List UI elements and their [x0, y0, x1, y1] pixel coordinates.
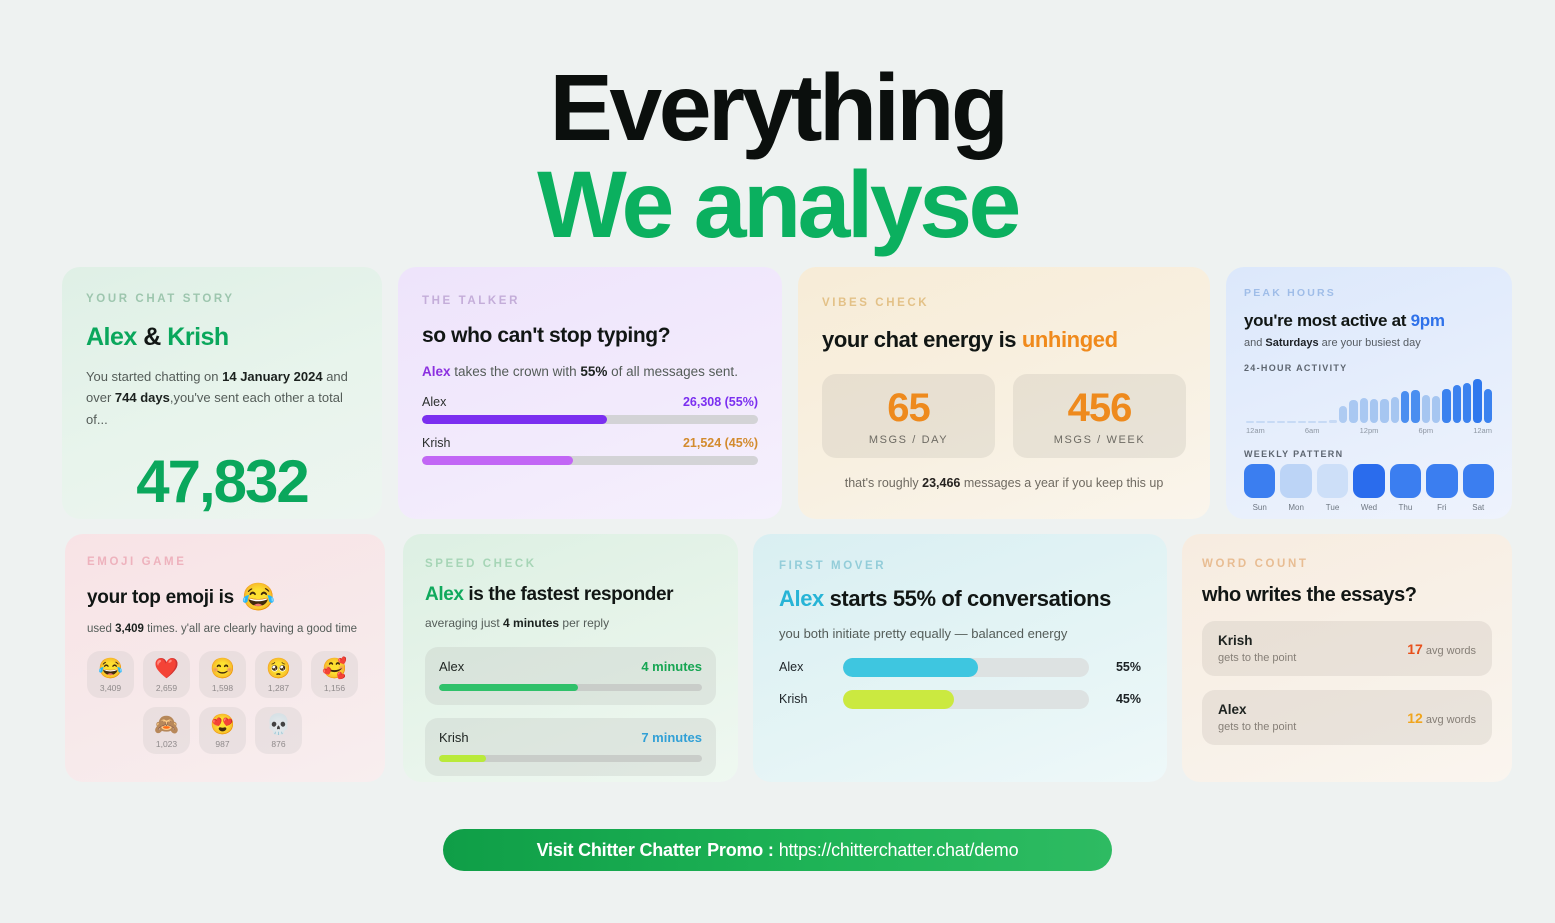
- speed-row-alex-name: Alex: [439, 659, 464, 674]
- emoji-sub-1: used: [87, 623, 115, 635]
- hour-bar: [1484, 389, 1492, 424]
- vibes-title-highlight: unhinged: [1022, 327, 1118, 352]
- hour-axis-tick: 6pm: [1419, 426, 1434, 435]
- hour-bar: [1246, 421, 1254, 423]
- hourly-activity-chart: [1244, 377, 1494, 423]
- emoji-count: 987: [199, 739, 246, 749]
- mover-row-krish-fill: [843, 690, 954, 709]
- mover-row-alex-name: Alex: [779, 660, 831, 674]
- chat-story-total-messages: 47,832: [86, 452, 358, 512]
- card-emoji-game[interactable]: EMOJI GAME your top emoji is 😂 used 3,40…: [65, 534, 385, 782]
- emoji-cell[interactable]: 🥰1,156: [311, 651, 358, 698]
- hour-bar: [1329, 420, 1337, 423]
- peak-hour-highlight: 9pm: [1411, 311, 1445, 330]
- emoji-cell[interactable]: 💀876: [255, 707, 302, 754]
- week-square: [1280, 464, 1311, 498]
- vibes-stat-per-day: 65 MSGS / DAY: [822, 374, 995, 458]
- talker-bar-krish-track: [422, 456, 758, 465]
- card-word-count[interactable]: WORD COUNT who writes the essays? Krish …: [1182, 534, 1512, 782]
- chat-story-name-b: Krish: [167, 323, 228, 351]
- emoji-cell[interactable]: 🙈1,023: [143, 707, 190, 754]
- speed-sub-2: per reply: [559, 616, 609, 630]
- emoji-cell[interactable]: 😂3,409: [87, 651, 134, 698]
- talker-bar-alex-value: 26,308 (55%): [683, 395, 758, 409]
- chat-story-day-count: 744 days: [115, 390, 170, 405]
- hour-bar: [1473, 379, 1481, 423]
- vibes-msgs-week-value: 456: [1021, 388, 1178, 428]
- hour-bar: [1380, 399, 1388, 423]
- word-row-krish-unit: avg words: [1423, 645, 1476, 657]
- peak-busiest-day: Saturdays: [1265, 337, 1318, 349]
- mover-row-krish-track: [843, 690, 1089, 709]
- speed-row-krish-name: Krish: [439, 730, 469, 745]
- talker-sub-2: of all messages sent.: [607, 364, 738, 379]
- word-row-alex-name: Alex: [1218, 702, 1296, 717]
- chat-story-description: You started chatting on 14 January 2024 …: [86, 366, 358, 430]
- mover-title-rest: starts 55% of conversations: [824, 586, 1111, 611]
- talker-leader-name: Alex: [422, 364, 451, 379]
- mover-row-alex-track: [843, 658, 1089, 677]
- hero-heading: Everything We analyse: [0, 0, 1555, 252]
- week-cell: Tue: [1317, 464, 1348, 512]
- peak-subtitle: and Saturdays are your busiest day: [1244, 337, 1494, 349]
- speed-row-krish-track: [439, 755, 702, 762]
- emoji-count: 1,023: [143, 739, 190, 749]
- word-row-alex-number: 12: [1407, 710, 1423, 726]
- speed-sub-1: averaging just: [425, 616, 503, 630]
- peak-sub-2: are your busiest day: [1319, 337, 1421, 349]
- talker-bar-krish-fill: [422, 456, 573, 465]
- emoji-grid: 😂3,409❤️2,659😊1,598🥺1,287🥰1,156🙈1,023😍98…: [87, 651, 363, 754]
- emoji-title-text: your top emoji is: [87, 587, 234, 609]
- hour-bar: [1308, 421, 1316, 423]
- week-cell: Mon: [1280, 464, 1311, 512]
- hero-line-1: Everything: [0, 62, 1555, 155]
- emoji-cell[interactable]: ❤️2,659: [143, 651, 190, 698]
- vibes-msgs-day-label: MSGS / DAY: [830, 434, 987, 446]
- week-day-label: Sun: [1244, 503, 1275, 512]
- speed-title-rest: is the fastest responder: [464, 584, 674, 605]
- chat-story-start-date: 14 January 2024: [222, 369, 322, 384]
- hour-bar: [1411, 390, 1419, 423]
- card-the-talker[interactable]: THE TALKER so who can't stop typing? Ale…: [398, 267, 782, 519]
- chat-story-name-a: Alex: [86, 323, 137, 351]
- hour-bar: [1298, 421, 1306, 423]
- card-eyebrow-first-mover: FIRST MOVER: [779, 560, 1141, 572]
- week-day-label: Thu: [1390, 503, 1421, 512]
- hour-bar: [1442, 389, 1450, 424]
- word-row-krish-desc: gets to the point: [1218, 652, 1296, 664]
- emoji-cell[interactable]: 😊1,598: [199, 651, 246, 698]
- talker-leader-pct: 55%: [580, 364, 607, 379]
- week-day-label: Wed: [1353, 503, 1384, 512]
- speed-row-alex: Alex 4 minutes: [425, 647, 716, 705]
- week-day-label: Tue: [1317, 503, 1348, 512]
- peak-weekly-chart-label: WEEKLY PATTERN: [1244, 449, 1494, 459]
- hour-bar: [1277, 421, 1285, 423]
- hour-axis-tick: 6am: [1305, 426, 1320, 435]
- card-speed-check[interactable]: SPEED CHECK Alex is the fastest responde…: [403, 534, 738, 782]
- emoji-count: 1,156: [311, 683, 358, 693]
- speed-row-alex-track: [439, 684, 702, 691]
- vibes-msgs-week-label: MSGS / WEEK: [1021, 434, 1178, 446]
- week-cell: Fri: [1426, 464, 1457, 512]
- emoji-cell[interactable]: 🥺1,287: [255, 651, 302, 698]
- talker-sub-1: takes the crown with: [451, 364, 581, 379]
- vibes-stat-pair: 65 MSGS / DAY 456 MSGS / WEEK: [822, 374, 1186, 458]
- week-cell: Wed: [1353, 464, 1384, 512]
- week-cell: Thu: [1390, 464, 1421, 512]
- hero-line-2: We analyse: [0, 159, 1555, 252]
- week-square: [1317, 464, 1348, 498]
- cta-promo-button[interactable]: Visit Chitter ChatterPromo :https://chit…: [443, 829, 1112, 871]
- mover-row-alex-fill: [843, 658, 978, 677]
- mover-row-alex-pct: 55%: [1101, 660, 1141, 674]
- card-vibes-check[interactable]: VIBES CHECK your chat energy is unhinged…: [798, 267, 1210, 519]
- emoji-count: 1,287: [255, 683, 302, 693]
- word-row-krish-name: Krish: [1218, 633, 1296, 648]
- talker-bar-krish-name: Krish: [422, 436, 450, 450]
- emoji-count: 876: [255, 739, 302, 749]
- card-eyebrow-the-talker: THE TALKER: [422, 295, 758, 307]
- emoji-glyph-icon: 🙈: [143, 714, 190, 736]
- hour-bar: [1432, 396, 1440, 423]
- emoji-sub-2: times. y'all are clearly having a good t…: [144, 623, 357, 635]
- emoji-glyph-icon: ❤️: [143, 658, 190, 680]
- word-row-alex-unit: avg words: [1423, 714, 1476, 726]
- hour-bar: [1267, 421, 1275, 423]
- word-row-alex: Alex gets to the point 12 avg words: [1202, 690, 1492, 745]
- emoji-glyph-icon: 🥺: [255, 658, 302, 680]
- card-first-mover[interactable]: FIRST MOVER Alex starts 55% of conversat…: [753, 534, 1167, 782]
- speed-fastest-name: Alex: [425, 584, 464, 605]
- word-row-krish: Krish gets to the point 17 avg words: [1202, 621, 1492, 676]
- vibes-footer-note: that's roughly 23,466 messages a year if…: [822, 476, 1186, 490]
- hour-bar: [1339, 406, 1347, 423]
- emoji-subtitle: used 3,409 times. y'all are clearly havi…: [87, 620, 363, 639]
- peak-title-1: you're most active at: [1244, 311, 1411, 330]
- mover-row-alex: Alex 55%: [779, 658, 1141, 677]
- week-day-label: Sat: [1463, 503, 1494, 512]
- hourly-activity-axis: 12am6am12pm6pm12am: [1244, 426, 1494, 435]
- talker-bar-krish: Krish 21,524 (45%): [422, 436, 758, 465]
- card-eyebrow-word-count: WORD COUNT: [1202, 558, 1492, 570]
- card-chat-story[interactable]: YOUR CHAT STORY Alex & Krish You started…: [62, 267, 382, 519]
- card-eyebrow-emoji-game: EMOJI GAME: [87, 556, 363, 568]
- speed-row-krish: Krish 7 minutes: [425, 718, 716, 776]
- cta-strong-text: Visit Chitter Chatter: [537, 840, 702, 861]
- cta-url-text: https://chitterchatter.chat/demo: [779, 840, 1019, 861]
- peak-title: you're most active at 9pm: [1244, 311, 1494, 331]
- card-eyebrow-vibes-check: VIBES CHECK: [822, 297, 1186, 309]
- mover-title: Alex starts 55% of conversations: [779, 586, 1141, 612]
- mover-starter-name: Alex: [779, 586, 824, 611]
- word-row-krish-info: Krish gets to the point: [1218, 633, 1296, 664]
- weekly-pattern-chart: SunMonTueWedThuFriSat: [1244, 464, 1494, 512]
- chat-story-desc-1: You started chatting on: [86, 369, 222, 384]
- hour-axis-tick: 12am: [1246, 426, 1265, 435]
- emoji-cell[interactable]: 😍987: [199, 707, 246, 754]
- hour-bar: [1391, 397, 1399, 423]
- word-row-alex-info: Alex gets to the point: [1218, 702, 1296, 733]
- mover-row-krish-pct: 45%: [1101, 692, 1141, 706]
- cta-mid-text: Promo :: [707, 840, 774, 861]
- emoji-glyph-icon: 😍: [199, 714, 246, 736]
- word-row-krish-value: 17 avg words: [1407, 641, 1476, 657]
- peak-sub-1: and: [1244, 337, 1265, 349]
- word-row-alex-desc: gets to the point: [1218, 721, 1296, 733]
- emoji-count: 1,598: [199, 683, 246, 693]
- talker-bar-alex-track: [422, 415, 758, 424]
- hour-bar: [1422, 395, 1430, 423]
- emoji-title: your top emoji is 😂: [87, 584, 363, 611]
- vibes-foot-1: that's roughly: [845, 476, 922, 490]
- hour-bar: [1318, 421, 1326, 423]
- mover-row-krish: Krish 45%: [779, 690, 1141, 709]
- card-eyebrow-chat-story: YOUR CHAT STORY: [86, 293, 358, 305]
- vibes-title-1: your chat energy is: [822, 327, 1022, 352]
- week-day-label: Mon: [1280, 503, 1311, 512]
- hour-bar: [1287, 421, 1295, 423]
- card-eyebrow-speed-check: SPEED CHECK: [425, 558, 716, 570]
- emoji-glyph-icon: 🥰: [311, 658, 358, 680]
- chat-story-names: Alex & Krish: [86, 323, 358, 352]
- hour-bar: [1370, 399, 1378, 423]
- hour-bar: [1360, 398, 1368, 423]
- card-eyebrow-peak-hours: PEAK HOURS: [1244, 287, 1494, 299]
- emoji-count: 3,409: [87, 683, 134, 693]
- speed-title: Alex is the fastest responder: [425, 583, 716, 606]
- word-row-alex-value: 12 avg words: [1407, 710, 1476, 726]
- vibes-yearly-estimate: 23,466: [922, 476, 960, 490]
- hour-bar: [1401, 391, 1409, 423]
- talker-title: so who can't stop typing?: [422, 323, 758, 349]
- week-square: [1463, 464, 1494, 498]
- vibes-msgs-day-value: 65: [830, 388, 987, 428]
- speed-subtitle: averaging just 4 minutes per reply: [425, 614, 716, 634]
- week-day-label: Fri: [1426, 503, 1457, 512]
- emoji-top-count: 3,409: [115, 623, 144, 635]
- talker-bar-krish-value: 21,524 (45%): [683, 436, 758, 450]
- hour-bar: [1463, 383, 1471, 423]
- hour-axis-tick: 12pm: [1360, 426, 1379, 435]
- speed-row-alex-value: 4 minutes: [641, 659, 702, 674]
- speed-avg-time: 4 minutes: [503, 616, 559, 630]
- week-cell: Sun: [1244, 464, 1275, 512]
- speed-row-krish-value: 7 minutes: [641, 730, 702, 745]
- chat-story-ampersand: &: [143, 323, 161, 351]
- emoji-count: 2,659: [143, 683, 190, 693]
- talker-bar-alex-fill: [422, 415, 607, 424]
- emoji-glyph-icon: 😊: [199, 658, 246, 680]
- speed-row-alex-fill: [439, 684, 578, 691]
- emoji-glyph-icon: 😂: [87, 658, 134, 680]
- talker-subtitle: Alex takes the crown with 55% of all mes…: [422, 361, 758, 383]
- vibes-title: your chat energy is unhinged: [822, 327, 1186, 354]
- top-emoji-icon: 😂: [242, 584, 275, 611]
- hour-bar: [1453, 385, 1461, 423]
- week-square: [1390, 464, 1421, 498]
- words-title: who writes the essays?: [1202, 583, 1492, 607]
- week-square: [1244, 464, 1275, 498]
- word-row-krish-number: 17: [1407, 641, 1423, 657]
- poster-root: Everything We analyse YOUR CHAT STORY Al…: [0, 0, 1555, 923]
- vibes-foot-2: messages a year if you keep this up: [960, 476, 1163, 490]
- card-peak-hours[interactable]: PEAK HOURS you're most active at 9pm and…: [1226, 267, 1512, 519]
- speed-row-krish-fill: [439, 755, 486, 762]
- hour-bar: [1349, 400, 1357, 423]
- vibes-stat-per-week: 456 MSGS / WEEK: [1013, 374, 1186, 458]
- talker-bar-alex: Alex 26,308 (55%): [422, 395, 758, 424]
- week-square: [1353, 464, 1384, 498]
- hour-bar: [1256, 421, 1264, 423]
- emoji-glyph-icon: 💀: [255, 714, 302, 736]
- peak-hours-chart-label: 24-HOUR ACTIVITY: [1244, 363, 1494, 373]
- hour-axis-tick: 12am: [1473, 426, 1492, 435]
- week-square: [1426, 464, 1457, 498]
- week-cell: Sat: [1463, 464, 1494, 512]
- mover-row-krish-name: Krish: [779, 692, 831, 706]
- mover-subtitle: you both initiate pretty equally — balan…: [779, 623, 1141, 644]
- talker-bar-alex-name: Alex: [422, 395, 446, 409]
